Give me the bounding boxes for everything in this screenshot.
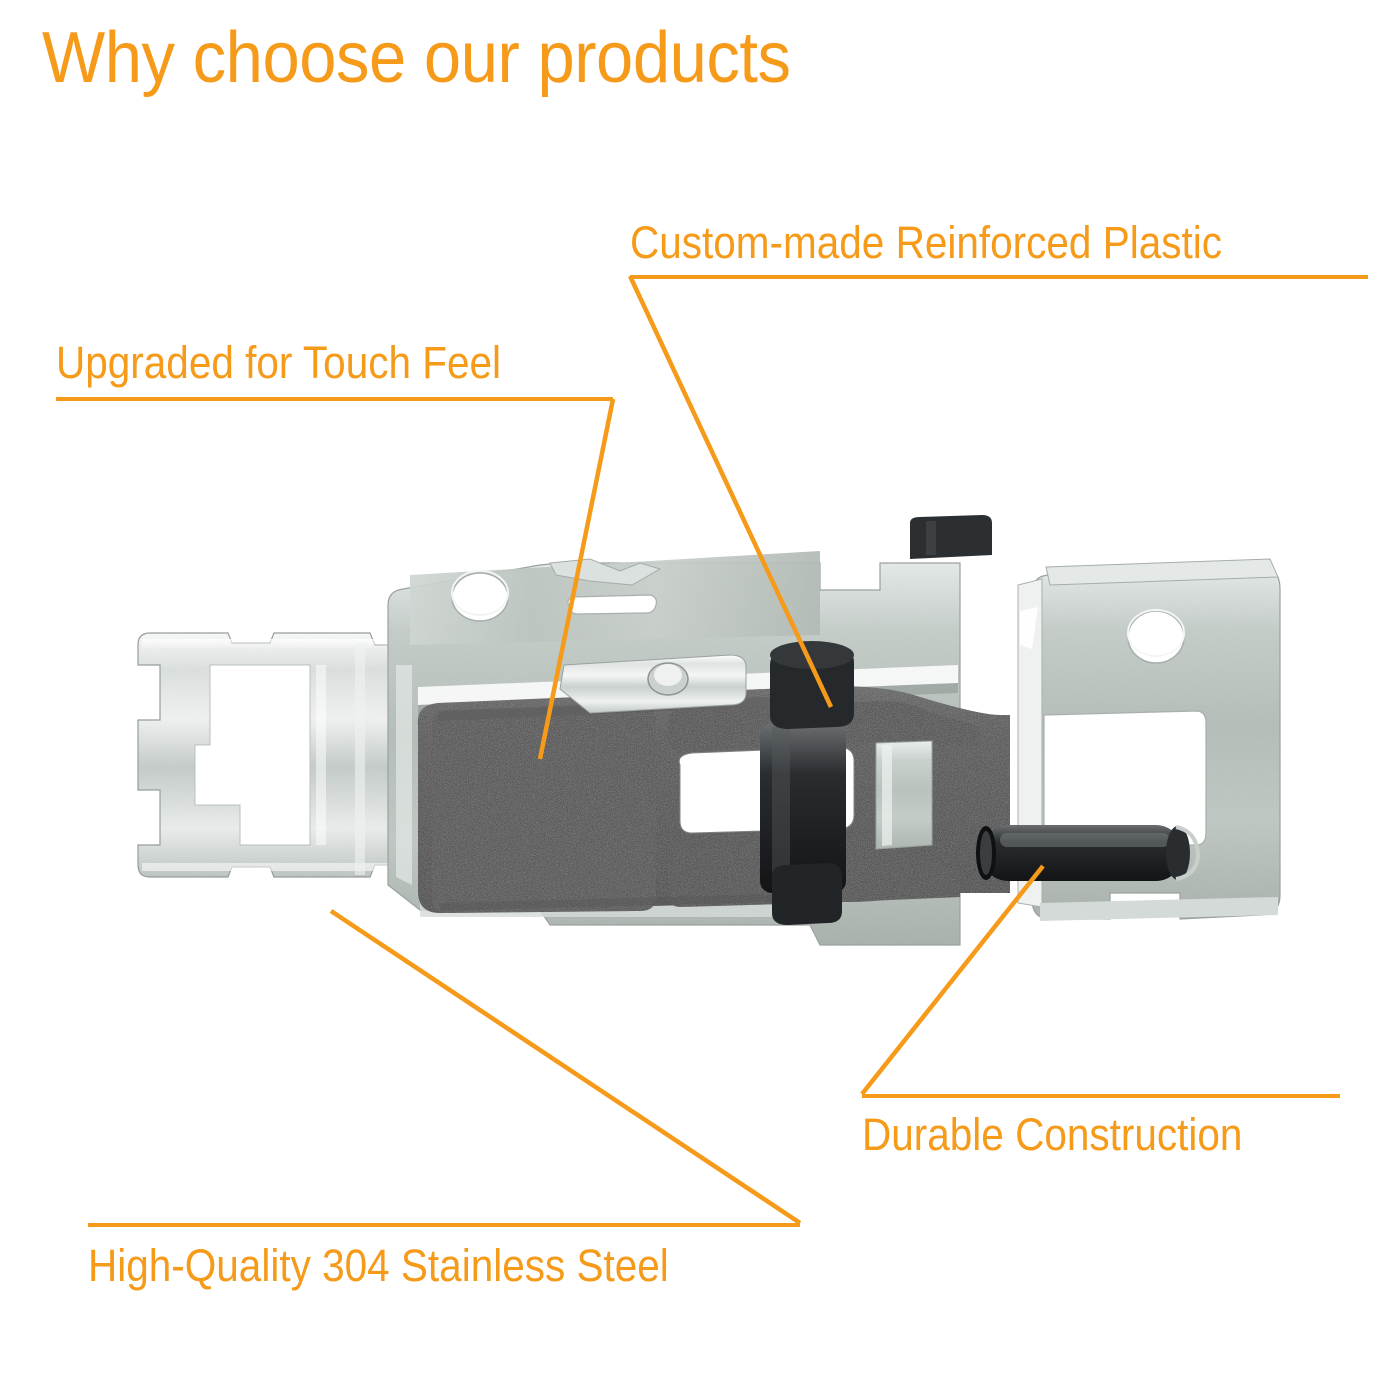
callout-label-steel: High-Quality 304 Stainless Steel (88, 1243, 669, 1290)
black-pivot-pin (976, 825, 1198, 881)
callout-rule-touch (56, 397, 613, 401)
callout-rule-plastic (630, 275, 1368, 279)
page-title: Why choose our products (42, 22, 791, 94)
callout-high-quality-304-stainless-steel: High-Quality 304 Stainless Steel (88, 1243, 733, 1290)
infographic-canvas: Why choose our products (0, 0, 1400, 1400)
callout-label-touch: Upgraded for Touch Feel (56, 340, 501, 387)
callout-durable-construction: Durable Construction (862, 1112, 1285, 1159)
callout-label-durable: Durable Construction (862, 1112, 1242, 1159)
callout-rule-steel (88, 1223, 800, 1227)
callout-upgraded-for-touch-feel: Upgraded for Touch Feel (56, 340, 550, 387)
callout-rule-durable (862, 1094, 1340, 1098)
callout-custom-made-reinforced-plastic: Custom-made Reinforced Plastic (630, 220, 1288, 267)
callout-label-plastic: Custom-made Reinforced Plastic (630, 220, 1222, 267)
stainless-mounting-plate (138, 633, 420, 877)
product-photo (120, 515, 1300, 1015)
